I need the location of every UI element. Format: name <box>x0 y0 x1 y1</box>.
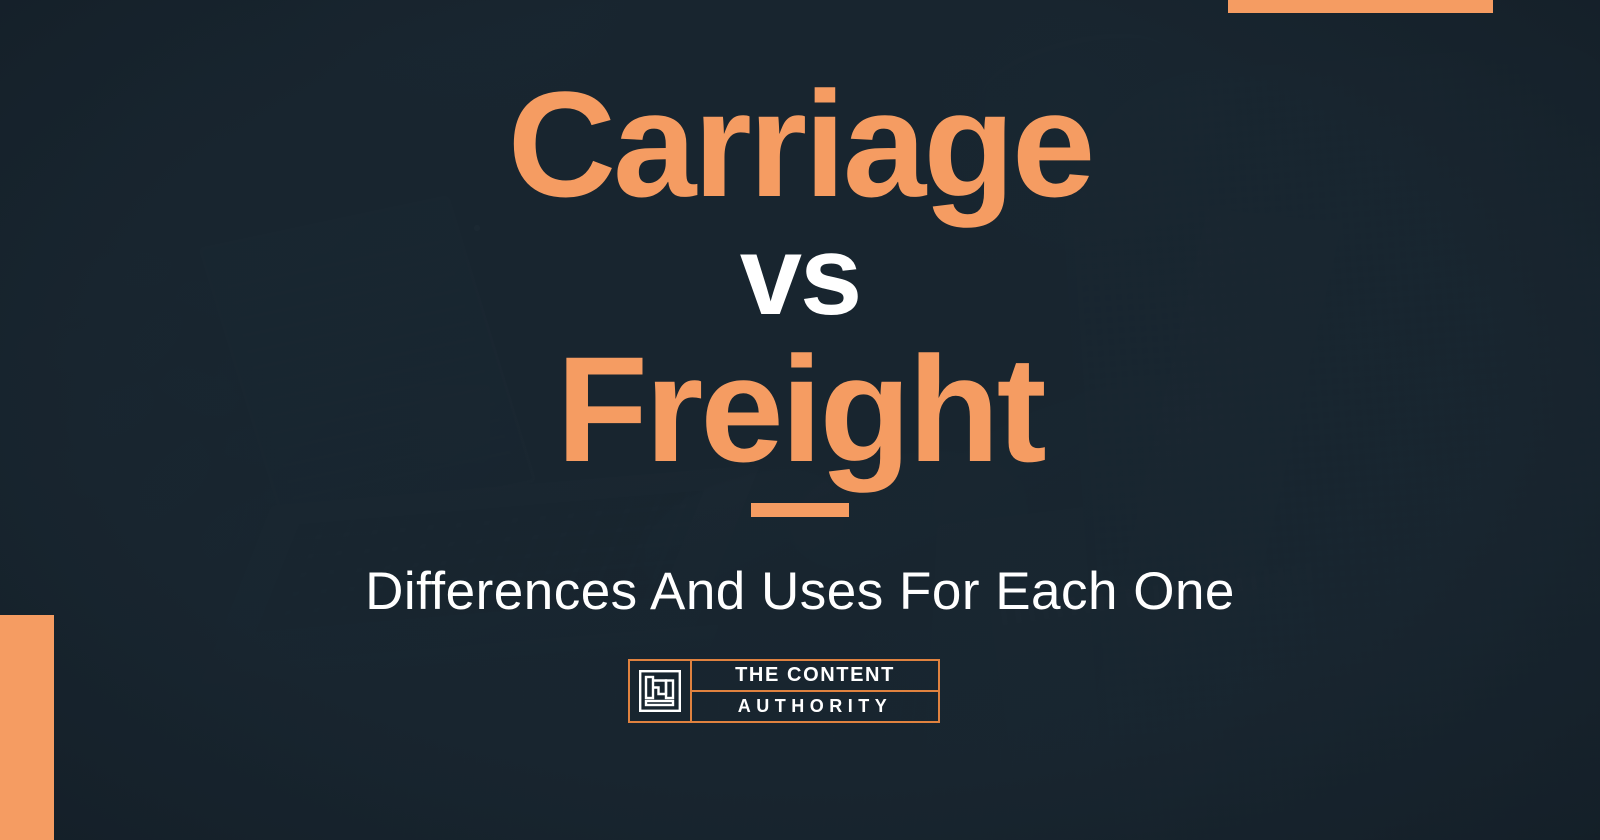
article-hero-banner: Carriage vs Freight Differences And Uses… <box>0 0 1600 840</box>
page-title: Carriage vs Freight <box>508 72 1093 517</box>
title-line-carriage: Carriage <box>508 72 1093 216</box>
title-divider <box>751 503 849 517</box>
banner-content: Carriage vs Freight Differences And Uses… <box>0 0 1600 840</box>
title-line-vs: vs <box>508 216 1093 337</box>
title-line-freight: Freight <box>508 337 1093 481</box>
page-subtitle: Differences And Uses For Each One <box>365 561 1235 622</box>
